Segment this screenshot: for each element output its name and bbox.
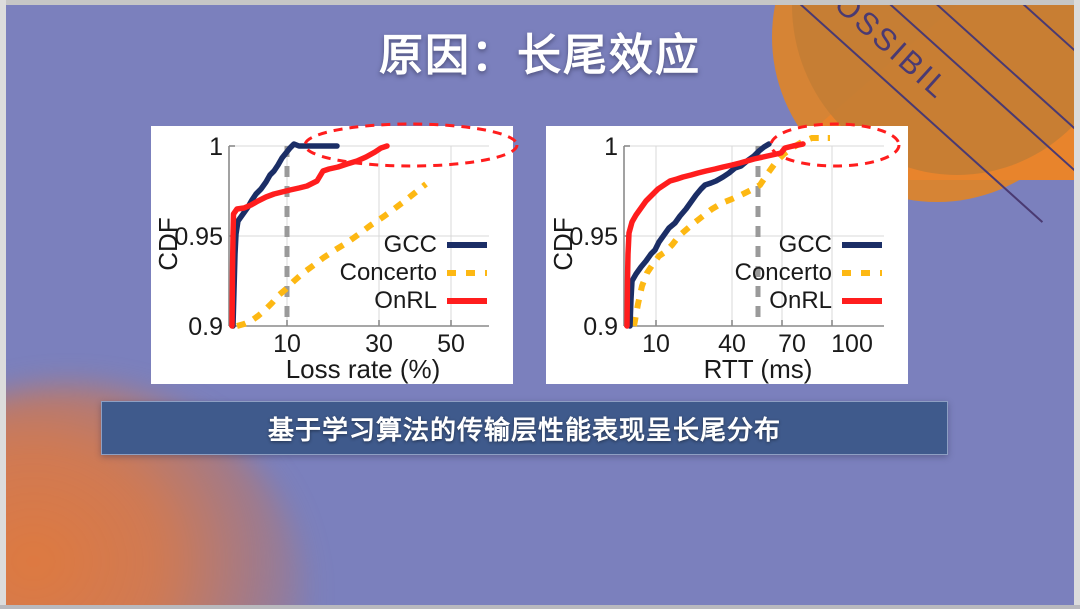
summary-banner: 基于学习算法的传输层性能表现呈长尾分布: [101, 401, 948, 455]
legend-label-concerto-rtt: Concerto: [735, 259, 832, 286]
chart-rtt-cdf: 1 0.95 0.9 CDF 10 40 70 100 RTT (ms) GCC…: [546, 126, 908, 384]
slide-canvas: POSSIBIL ND VID 原因：长尾效应: [6, 5, 1074, 605]
chart-loss-rate-svg: 1 0.95 0.9 CDF 10 30 50 Loss rate (%) GC…: [151, 126, 513, 384]
chart-rtt-svg: 1 0.95 0.9 CDF 10 40 70 100 RTT (ms) GCC…: [546, 126, 908, 384]
legend-label-onrl-rtt: OnRL: [769, 287, 832, 314]
xlabel-rtt: RTT (ms): [704, 354, 813, 384]
ytick-rtt-1: 1: [604, 133, 618, 161]
slide-root: POSSIBIL ND VID 原因：长尾效应: [0, 0, 1080, 609]
frame-edge-top: [0, 0, 1080, 5]
ytick-loss-09: 0.9: [188, 313, 223, 341]
frame-edge-left: [0, 0, 6, 609]
page-title: 原因：长尾效应: [6, 19, 1074, 83]
legend-label-gcc-loss: GCC: [384, 231, 437, 258]
xtick-loss-50: 50: [437, 330, 465, 358]
frame-edge-right: [1074, 0, 1080, 609]
ytick-rtt-09: 0.9: [583, 313, 618, 341]
xtick-rtt-10: 10: [642, 330, 670, 358]
frame-edge-bottom: [0, 605, 1080, 609]
legend-label-gcc-rtt: GCC: [779, 231, 832, 258]
ylabel-rtt: CDF: [548, 217, 578, 270]
summary-banner-text: 基于学习算法的传输层性能表现呈长尾分布: [268, 410, 781, 447]
ylabel-loss: CDF: [153, 217, 183, 270]
chart-loss-rate-cdf: 1 0.95 0.9 CDF 10 30 50 Loss rate (%) GC…: [151, 126, 513, 384]
legend-label-concerto-loss: Concerto: [340, 259, 437, 286]
xtick-rtt-100: 100: [831, 330, 873, 358]
legend-label-onrl-loss: OnRL: [374, 287, 437, 314]
xlabel-loss: Loss rate (%): [286, 354, 441, 384]
ytick-loss-1: 1: [209, 133, 223, 161]
